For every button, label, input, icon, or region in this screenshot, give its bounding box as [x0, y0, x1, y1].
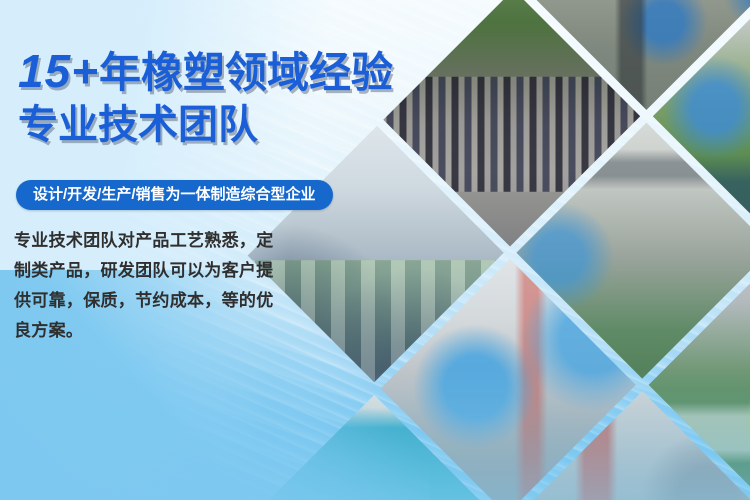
headline-plus-sign: +: [71, 45, 99, 97]
text-block: 15+年橡塑领域经验 专业技术团队 设计/开发/生产/销售为一体制造综合型企业 …: [0, 0, 420, 500]
headline-years-number: 15: [18, 45, 71, 97]
body-paragraph: 专业技术团队对产品工艺熟悉，定制类产品，研发团队可以为客户提供可靠，保质，节约成…: [14, 226, 278, 346]
capability-pill-badge: 设计/开发/生产/销售为一体制造综合型企业: [16, 180, 333, 210]
headline-line-1-text: 年橡塑领域经验: [99, 49, 393, 96]
headline: 15+年橡塑领域经验 专业技术团队: [18, 46, 393, 150]
headline-line-2: 专业技术团队: [18, 100, 393, 150]
headline-line-1: 15+年橡塑领域经验: [18, 46, 393, 98]
company-promo-banner: 15+年橡塑领域经验 专业技术团队 设计/开发/生产/销售为一体制造综合型企业 …: [0, 0, 750, 500]
